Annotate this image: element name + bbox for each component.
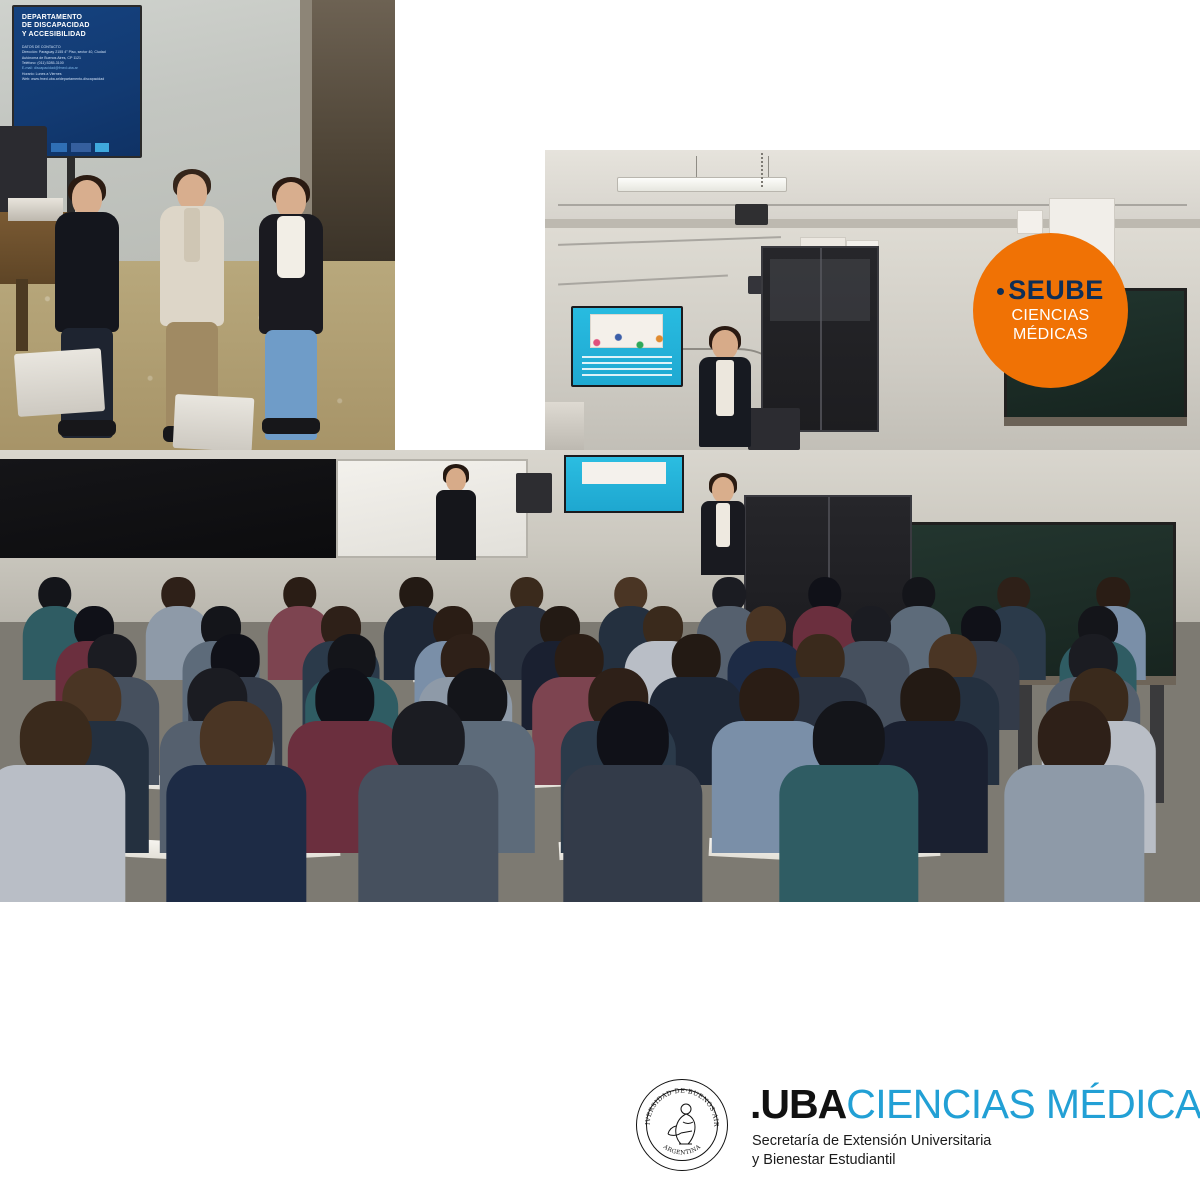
seube-dot-icon <box>997 288 1004 295</box>
block-amber-top <box>395 0 545 450</box>
student-silhouette <box>167 701 306 902</box>
speaker-standing <box>696 477 750 576</box>
head <box>276 182 306 218</box>
presentation-tv <box>571 306 682 387</box>
uba-subtitle: Secretaría de Extensión Universitaria y … <box>752 1132 1200 1169</box>
banner-title: Charla para estudiantes de Bioética <box>326 902 1200 1050</box>
tv-screen <box>573 308 680 385</box>
person-right <box>255 182 327 428</box>
double-door <box>761 246 879 432</box>
student-silhouette <box>563 701 702 902</box>
head <box>712 330 738 360</box>
head <box>712 477 734 503</box>
body <box>436 490 476 560</box>
photo-three-women: DEPARTAMENTO DE DISCAPACIDAD Y ACCESIBIL… <box>0 0 395 450</box>
info-screen-body: DATOS DE CONTACTO Dirección: Paraguay 21… <box>14 40 140 83</box>
slide-monitor <box>564 455 684 514</box>
block-cyan-2 <box>300 1050 450 1200</box>
uba-wordmark: .UBA CIENCIAS MÉDICAS Secretaría de Exte… <box>750 1081 1200 1169</box>
seube-name: SEUBE <box>1008 277 1104 304</box>
poster-canvas: DEPARTAMENTO DE DISCAPACIDAD Y ACCESIBIL… <box>0 0 1200 1200</box>
assistant-standing <box>432 468 480 558</box>
seube-name-row: SEUBE <box>997 277 1104 304</box>
shirt <box>184 208 200 262</box>
block-light-blue <box>150 1050 300 1200</box>
block-cyan-1 <box>150 902 300 1050</box>
hanging-chain <box>761 153 763 189</box>
head <box>72 180 102 216</box>
blouse <box>716 503 730 547</box>
student-body <box>1004 765 1143 902</box>
student-silhouette <box>779 701 918 902</box>
info-screen-title: DEPARTAMENTO DE DISCAPACIDAD Y ACCESIBIL… <box>14 7 140 40</box>
shoes <box>262 418 320 434</box>
head <box>177 174 207 210</box>
monitor-screen <box>566 457 682 512</box>
slide-text-lines <box>582 356 672 379</box>
wall-poster-small <box>1017 210 1043 234</box>
uba-subtitle-line1: Secretaría de Extensión Universitaria <box>752 1132 1200 1151</box>
seated-students <box>0 586 1200 902</box>
seube-line3: MÉDICAS <box>1013 326 1088 344</box>
head <box>446 468 466 492</box>
uba-subtitle-line2: y Bienestar Estudiantil <box>752 1151 1200 1170</box>
uba-seal-icon: UNIVERSIDAD·DE·BUENOS·AIRES ARGENTINA <box>636 1079 728 1171</box>
speaker-box <box>516 473 552 514</box>
seube-badge: SEUBE CIENCIAS MÉDICAS <box>973 233 1128 388</box>
footer-logos: UNIVERSIDAD·DE·BUENOS·AIRES ARGENTINA <box>600 1050 1200 1200</box>
audience-heads-foreground <box>545 423 1200 450</box>
torso <box>55 212 119 332</box>
shoes <box>58 420 116 436</box>
left-blackboard <box>0 459 336 558</box>
uba-department: CIENCIAS MÉDICAS <box>846 1081 1200 1128</box>
student-body <box>779 765 918 902</box>
seube-line2: CIENCIAS <box>1012 307 1090 325</box>
blouse <box>716 360 734 416</box>
student-body <box>167 765 306 902</box>
block-cyan-header <box>545 0 753 150</box>
desk-leg <box>16 279 28 351</box>
date-label: MAYO 2025 <box>826 53 1070 98</box>
uba-mark: .UBA <box>750 1081 846 1128</box>
wall-speaker <box>735 204 768 225</box>
block-orange <box>0 902 150 1050</box>
student-body <box>358 765 497 902</box>
student-body <box>563 765 702 902</box>
student-silhouette <box>358 701 497 902</box>
header-bar: MAYO 2025 <box>753 0 1200 150</box>
title-band: Charla para estudiantes de Bioética <box>300 902 1200 1050</box>
student-silhouette <box>1005 701 1144 902</box>
folding-desk-1 <box>14 348 105 417</box>
block-teal <box>0 1050 150 1200</box>
student-silhouette <box>0 701 126 902</box>
uba-wordmark-line: .UBA CIENCIAS MÉDICAS <box>750 1081 1200 1128</box>
student-body <box>0 765 126 902</box>
photo-audience <box>0 450 1200 902</box>
seal-figure <box>661 1100 703 1150</box>
block-amber-bottom <box>450 1050 600 1200</box>
shirt <box>277 216 305 278</box>
folding-desk-2 <box>172 394 254 450</box>
